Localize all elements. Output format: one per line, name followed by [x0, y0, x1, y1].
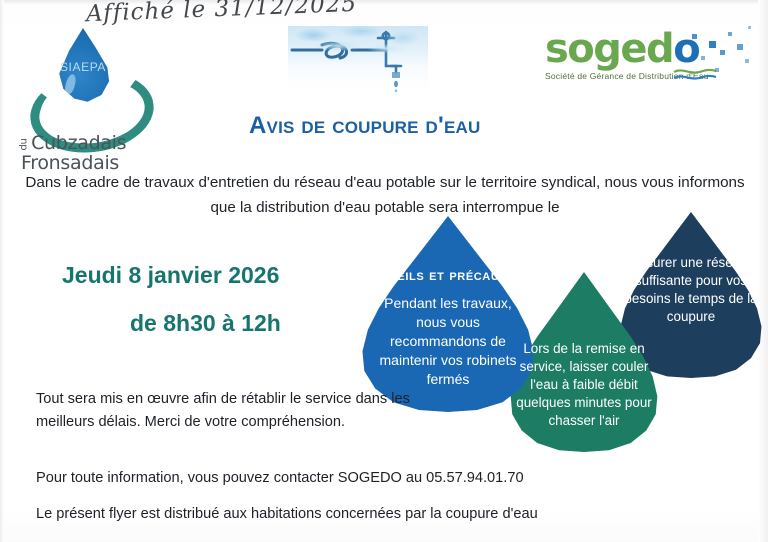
- siaepa-name-line1: Cubzadais: [31, 132, 126, 154]
- siaepa-name-prefix: du: [15, 138, 34, 150]
- drop-heading-conseils: Conseils et précautions: [357, 266, 539, 286]
- deco-square-8: [715, 68, 719, 72]
- deco-square-3: [728, 32, 732, 36]
- cut-date: Jeudi 8 janvier 2026: [62, 262, 279, 289]
- wave-icon: [673, 66, 717, 82]
- deco-square-1: [692, 34, 697, 39]
- faucet-background-texture: [288, 26, 428, 92]
- handwritten-note: Affiché le 31/12/2025: [86, 0, 358, 27]
- page-title: Avis de coupure d'eau: [249, 112, 480, 140]
- deco-square-7: [745, 59, 749, 63]
- sogedo-word-green: soged: [545, 26, 673, 72]
- drop-body-reserve: Assurer une réserve suffisante pour vos …: [616, 254, 766, 326]
- deco-square-5: [701, 56, 705, 60]
- faucet-image: [288, 26, 428, 92]
- flyer-page: Affiché le 31/12/2025 SIAEPA duCubzadais…: [0, 0, 768, 542]
- closing-paragraph: Tout sera mis en œuvre afin de rétablir …: [36, 388, 436, 434]
- sogedo-logo: sogedo Société de Gérance de Distributio…: [545, 28, 760, 100]
- drop-content-conseils: Conseils et précautions Pendant les trav…: [357, 266, 539, 389]
- siaepa-logo-text: SIAEPA: [54, 60, 112, 74]
- sogedo-tagline: Société de Gérance de Distribution d'Eau: [545, 71, 760, 81]
- deco-square-4: [720, 50, 725, 55]
- siaepa-logo: SIAEPA duCubzadais Fronsadais: [18, 26, 148, 154]
- deco-square-2: [709, 41, 716, 48]
- deco-square-9: [748, 26, 751, 29]
- siaepa-name: duCubzadais Fronsadais: [18, 134, 148, 173]
- deco-square-6: [737, 44, 743, 50]
- distribution-line: Le présent flyer est distribué aux habit…: [36, 503, 636, 526]
- drop-card-conseils: Conseils et précautions Pendant les trav…: [357, 216, 539, 412]
- drop-body-conseils: Pendant les travaux, nous vous recommand…: [357, 294, 539, 389]
- drop-content-reserve: Assurer une réserve suffisante pour vos …: [616, 254, 766, 326]
- cut-time: de 8h30 à 12h: [130, 310, 281, 337]
- intro-paragraph: Dans le cadre de travaux d'entretien du …: [24, 170, 746, 220]
- scan-edge-left: [0, 0, 4, 542]
- contact-line: Pour toute information, vous pouvez cont…: [36, 467, 556, 490]
